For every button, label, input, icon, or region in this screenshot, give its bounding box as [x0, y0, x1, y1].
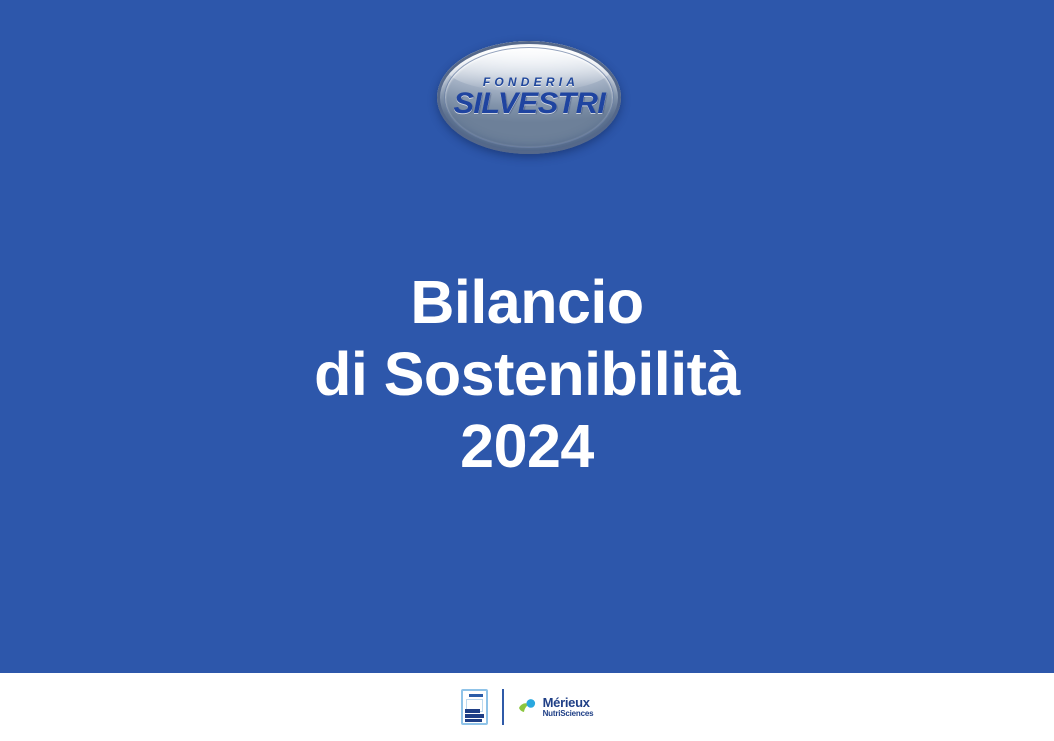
cover-background-panel: FONDERIA SILVESTRI Bilancio di Sostenibi…	[0, 0, 1054, 673]
cert-text-bar-1	[465, 709, 480, 713]
merieux-mark-icon	[518, 696, 540, 718]
fonderia-silvestri-logo: FONDERIA SILVESTRI	[437, 41, 621, 154]
footer-logo-row: Mérieux NutriSciences	[0, 673, 1054, 741]
cover-slide: FONDERIA SILVESTRI Bilancio di Sostenibi…	[0, 0, 1054, 741]
cover-title: Bilancio di Sostenibilità 2024	[0, 266, 1054, 482]
cert-text-bar-2	[465, 714, 484, 718]
footer-strip: Mérieux NutriSciences	[0, 673, 1054, 741]
logo-oval-shape	[437, 41, 621, 154]
certification-document-logo	[461, 689, 488, 725]
merieux-division-name: NutriSciences	[543, 710, 594, 718]
cert-top-dash-icon	[469, 694, 483, 697]
cert-text-bar-3	[465, 719, 482, 722]
cover-title-line-1: Bilancio	[0, 266, 1054, 338]
cover-title-line-2: di Sostenibilità	[0, 338, 1054, 410]
logo-gloss-highlight	[447, 46, 611, 92]
merieux-nutrisciences-logo: Mérieux NutriSciences	[518, 696, 594, 718]
footer-divider	[502, 689, 504, 725]
merieux-wordmark: Mérieux NutriSciences	[543, 696, 594, 718]
merieux-brand-name: Mérieux	[543, 696, 594, 709]
cover-title-line-3: 2024	[0, 410, 1054, 482]
